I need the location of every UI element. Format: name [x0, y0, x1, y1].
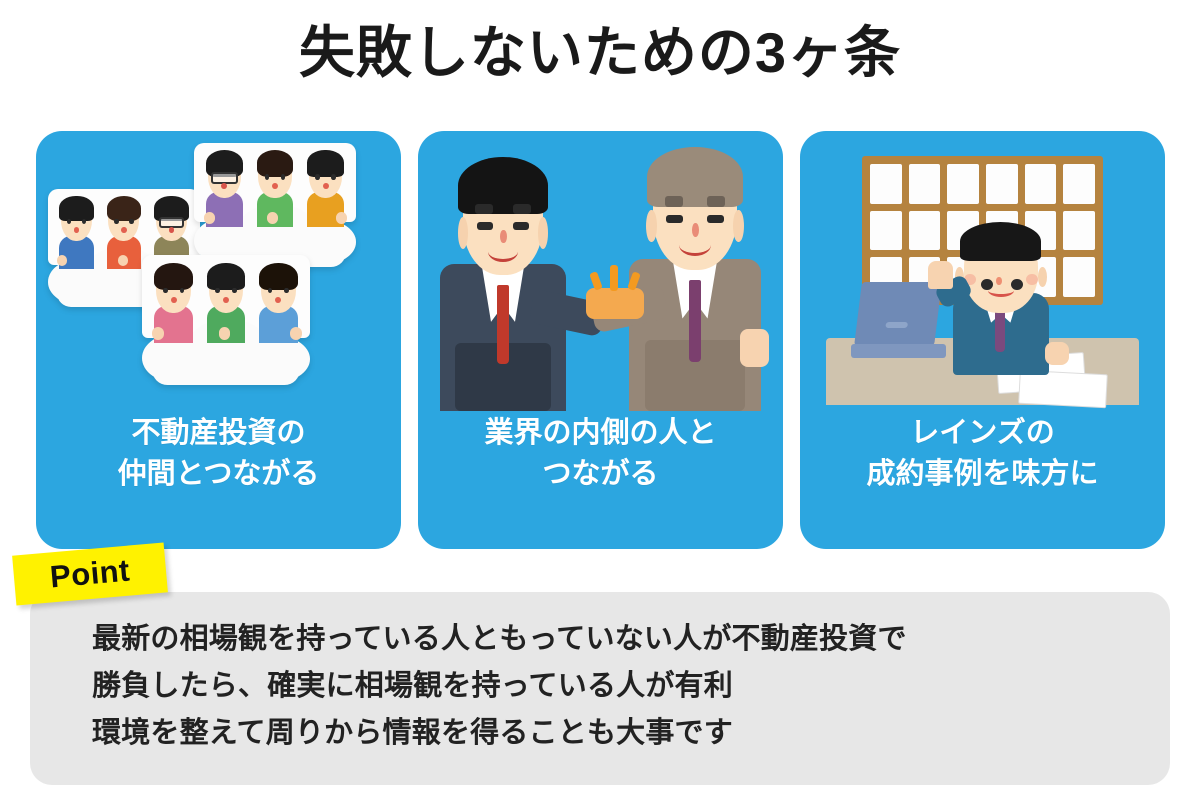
hair: [458, 157, 549, 215]
page-title: 失敗しないための3ヶ条: [0, 22, 1200, 84]
three-rules-card-row: 不動産投資の 仲間とつながる: [36, 131, 1166, 549]
young-businessman: [440, 149, 566, 411]
real-estate-agent: [946, 212, 1056, 374]
person-green-shirt: [201, 263, 251, 344]
people-groups-illustration: [36, 131, 401, 411]
rule-card-1-label-line1: 不動産投資の: [36, 413, 401, 454]
person-pink-shirt: [148, 263, 198, 344]
necktie: [995, 310, 1005, 352]
point-note-panel: 最新の相場観を持っている人ともっていない人が不動産投資で 勝負したら、確実に相場…: [30, 592, 1170, 785]
senior-businessman: [629, 139, 761, 411]
infographic-canvas: 失敗しないための3ヶ条: [0, 0, 1200, 800]
point-note-line-2: 勝負したら、確実に相場観を持っている人が有利: [92, 663, 1170, 710]
person-orange-shirt: [301, 150, 350, 227]
agent-at-desk-illustration: [800, 131, 1165, 411]
hair: [647, 147, 742, 207]
glasses-icon: [211, 172, 238, 184]
people-row: [194, 150, 356, 227]
rule-card-1-label: 不動産投資の 仲間とつながる: [36, 413, 401, 495]
person-orange-shirt: [101, 196, 147, 269]
hair: [960, 222, 1041, 261]
laptop-screen: [854, 282, 942, 346]
cloud-group-top-right: [194, 143, 356, 267]
person-blue-shirt: [54, 196, 100, 269]
rule-card-1[interactable]: 不動産投資の 仲間とつながる: [36, 131, 401, 549]
sparkle-icon: [591, 265, 638, 290]
person-blue-shirt: [253, 263, 303, 344]
handshake-illustration: [418, 131, 783, 411]
rule-card-2[interactable]: 業界の内側の人と つながる: [418, 131, 783, 549]
rule-card-2-label-line1: 業界の内側の人と: [418, 413, 783, 454]
paper-sheet: [1018, 370, 1107, 408]
rule-card-3-label-line1: レインズの: [800, 413, 1165, 454]
rule-card-1-label-line2: 仲間とつながる: [36, 454, 401, 495]
cloud-group-bottom: [142, 255, 310, 385]
pointing-finger: [928, 261, 952, 289]
person-purple-shirt-glasses: [200, 150, 249, 227]
rule-card-3-label: レインズの 成約事例を味方に: [800, 413, 1165, 495]
rule-card-3-label-line2: 成約事例を味方に: [800, 454, 1165, 495]
rule-card-2-label-line2: つながる: [418, 454, 783, 495]
laptop-keyboard: [851, 344, 946, 358]
people-row: [142, 263, 310, 344]
rule-card-3[interactable]: レインズの 成約事例を味方に: [800, 131, 1165, 549]
point-badge-label: Point: [49, 553, 132, 596]
clasped-hands: [586, 288, 644, 319]
point-note-line-3: 環境を整えて周りから情報を得ることも大事です: [92, 710, 1170, 757]
glasses-icon: [159, 217, 185, 228]
person-green-shirt: [251, 150, 300, 227]
point-note-line-1: 最新の相場観を持っている人ともっていない人が不動産投資で: [92, 616, 1170, 663]
rule-card-2-label: 業界の内側の人と つながる: [418, 413, 783, 495]
